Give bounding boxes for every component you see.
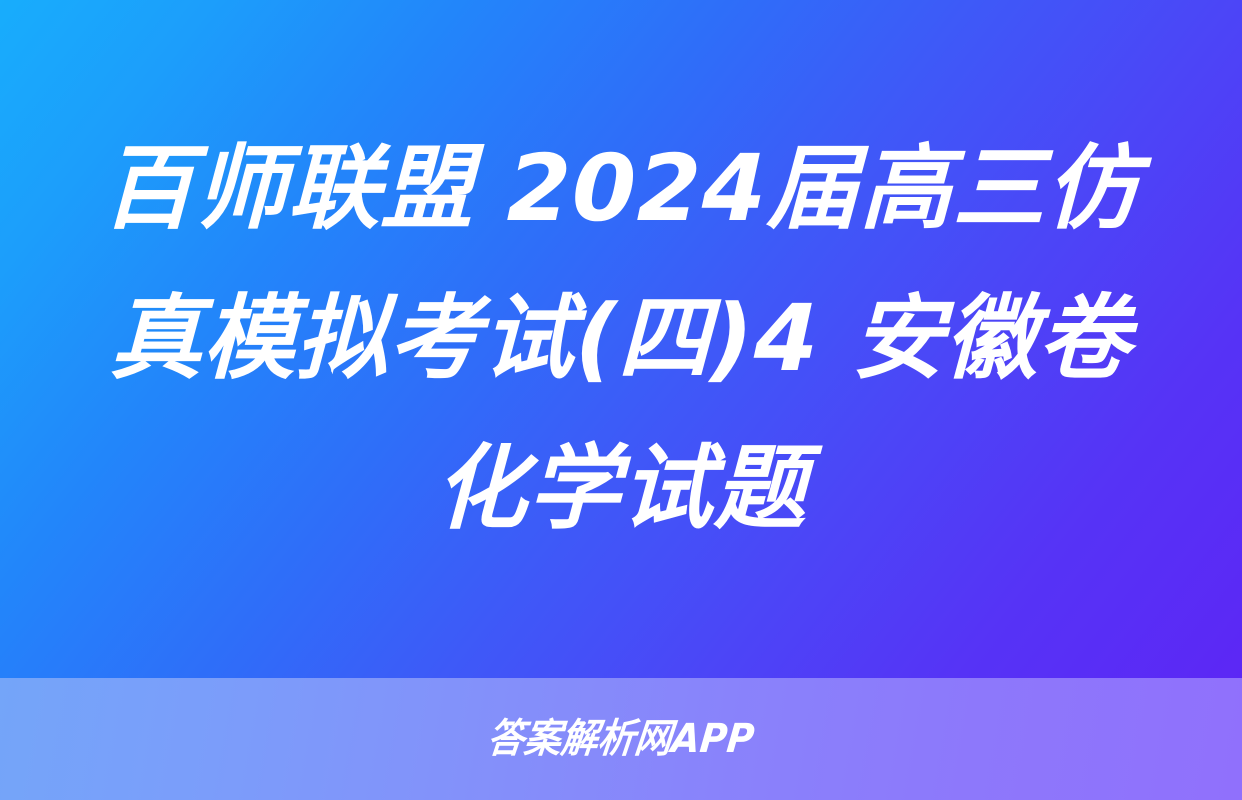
title-block: 百师联盟 2024届高三仿 真模拟考试(四)4 安徽卷 化学试题 [0, 0, 1242, 678]
watermark-band: 答案解析网APP [0, 678, 1242, 800]
title-line-2: 真模拟考试(四)4 安徽卷 [109, 264, 1133, 414]
title-line-3: 化学试题 [434, 414, 809, 564]
poster-root: 百师联盟 2024届高三仿 真模拟考试(四)4 安徽卷 化学试题 答案解析网AP… [0, 0, 1242, 800]
title-line-1: 百师联盟 2024届高三仿 [101, 114, 1141, 264]
watermark-text: 答案解析网APP [485, 716, 756, 762]
